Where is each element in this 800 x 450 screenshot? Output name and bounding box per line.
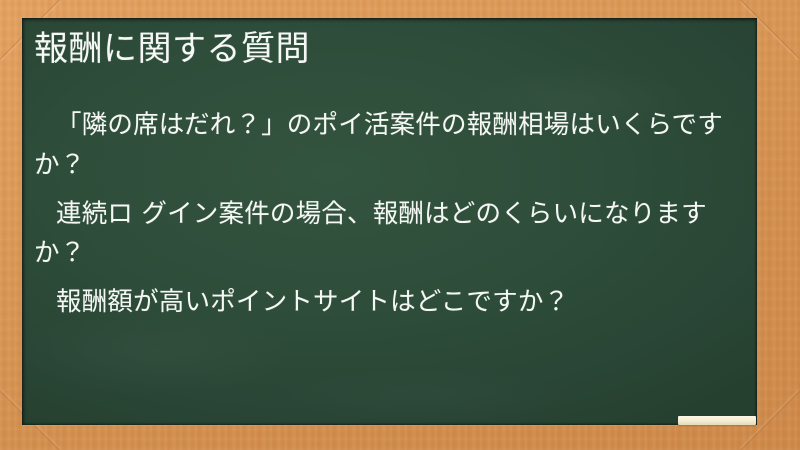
question-item: 報酬額が高いポイントサイトはどこですか？	[34, 283, 749, 323]
chalkboard-slide: 報酬に関する質問 「隣の席はだれ？」のポイ活案件の報酬相場はいくらですか？ 連続…	[0, 0, 800, 450]
slide-title: 報酬に関する質問	[34, 29, 310, 70]
question-list: 「隣の席はだれ？」のポイ活案件の報酬相場はいくらですか？ 連続ロ グイン案件の場…	[34, 106, 749, 323]
question-item: 連続ロ グイン案件の場合、報酬はどのくらいになりますか？	[34, 195, 749, 275]
question-item: 「隣の席はだれ？」のポイ活案件の報酬相場はいくらですか？	[34, 106, 749, 186]
chalk-stick	[678, 416, 756, 425]
board-content: 報酬に関する質問 「隣の席はだれ？」のポイ活案件の報酬相場はいくらですか？ 連続…	[22, 18, 757, 425]
chalkboard-surface: 報酬に関する質問 「隣の席はだれ？」のポイ活案件の報酬相場はいくらですか？ 連続…	[22, 18, 757, 425]
